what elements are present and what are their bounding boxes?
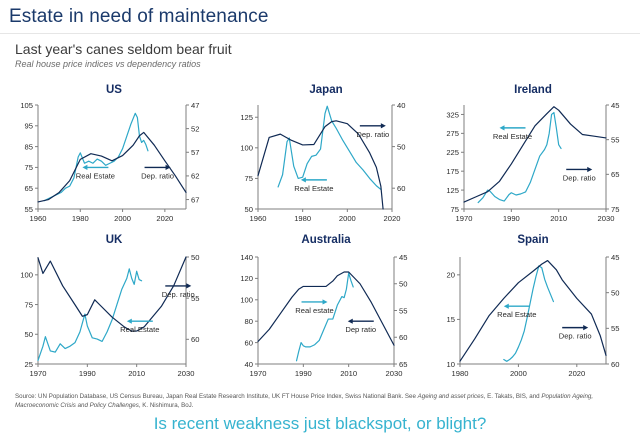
svg-text:2000: 2000 xyxy=(114,214,131,223)
svg-text:80: 80 xyxy=(245,317,253,326)
svg-text:140: 140 xyxy=(240,253,253,262)
chart-caption: Real house price indices vs dependency r… xyxy=(15,59,201,69)
svg-text:2010: 2010 xyxy=(550,214,567,223)
source-text-3: , K. Nishimura, BoJ. xyxy=(139,402,194,409)
source-text-1: Source: UN Population Database, US Censu… xyxy=(15,393,418,400)
svg-text:275: 275 xyxy=(446,129,459,138)
chart-panel-ireland: Ireland 75125175225275325455565751970199… xyxy=(430,84,636,229)
chart-plot-us: 556575859510547525762671960198020002020R… xyxy=(8,99,220,229)
chart-panel-spain: Spain 10152045505560198020002020Real Est… xyxy=(430,234,636,384)
svg-text:50: 50 xyxy=(25,330,33,339)
svg-text:10: 10 xyxy=(447,360,455,369)
chart-title-australia: Australia xyxy=(228,234,424,246)
svg-text:60: 60 xyxy=(191,335,199,344)
chart-title-us: US xyxy=(8,84,220,96)
svg-text:Real Estate: Real Estate xyxy=(76,171,115,180)
chart-panel-us: US 5565758595105475257626719601980200020… xyxy=(8,84,220,229)
svg-text:105: 105 xyxy=(20,101,33,110)
svg-text:325: 325 xyxy=(446,110,459,119)
svg-text:50: 50 xyxy=(191,253,199,262)
svg-text:120: 120 xyxy=(240,274,253,283)
slide-root: Estate in need of maintenance Last year'… xyxy=(0,0,640,445)
svg-text:1960: 1960 xyxy=(30,214,47,223)
svg-text:1960: 1960 xyxy=(250,214,267,223)
footer-headline: Is recent weakness just blackspot, or bl… xyxy=(0,414,640,434)
svg-text:2010: 2010 xyxy=(340,369,357,378)
svg-text:225: 225 xyxy=(446,148,459,157)
svg-text:Dep. ratio: Dep. ratio xyxy=(141,171,174,180)
svg-text:1970: 1970 xyxy=(456,214,473,223)
chart-title-spain: Spain xyxy=(430,234,636,246)
svg-text:100: 100 xyxy=(240,144,253,153)
svg-text:125: 125 xyxy=(240,113,253,122)
svg-text:20: 20 xyxy=(447,271,455,280)
svg-text:55: 55 xyxy=(25,205,33,214)
svg-text:75: 75 xyxy=(451,205,459,214)
svg-text:Dep. ratio: Dep. ratio xyxy=(162,290,195,299)
chart-title-japan: Japan xyxy=(228,84,424,96)
svg-text:75: 75 xyxy=(611,205,619,214)
svg-text:52: 52 xyxy=(191,124,199,133)
svg-text:55: 55 xyxy=(611,135,619,144)
source-note: Source: UN Population Database, US Censu… xyxy=(15,393,633,411)
svg-text:1980: 1980 xyxy=(452,369,469,378)
svg-text:15: 15 xyxy=(447,315,455,324)
svg-text:50: 50 xyxy=(245,205,253,214)
svg-text:45: 45 xyxy=(399,253,407,262)
svg-text:1970: 1970 xyxy=(30,369,47,378)
svg-text:2010: 2010 xyxy=(128,369,145,378)
svg-text:2030: 2030 xyxy=(598,214,615,223)
svg-text:25: 25 xyxy=(25,360,33,369)
chart-panel-uk: UK 2550751005055601970199020102030Real E… xyxy=(8,234,220,384)
svg-text:2000: 2000 xyxy=(339,214,356,223)
svg-text:75: 75 xyxy=(25,163,33,172)
svg-text:2030: 2030 xyxy=(386,369,403,378)
svg-text:45: 45 xyxy=(611,101,619,110)
svg-text:62: 62 xyxy=(191,172,199,181)
svg-text:1980: 1980 xyxy=(294,214,311,223)
svg-text:1990: 1990 xyxy=(295,369,312,378)
svg-text:40: 40 xyxy=(245,360,253,369)
chart-title-ireland: Ireland xyxy=(430,84,636,96)
svg-text:2030: 2030 xyxy=(178,369,195,378)
svg-text:Real Estate: Real Estate xyxy=(294,184,333,193)
svg-text:75: 75 xyxy=(25,300,33,309)
svg-text:2020: 2020 xyxy=(384,214,401,223)
svg-text:Real Estate: Real Estate xyxy=(493,132,532,141)
svg-text:1990: 1990 xyxy=(79,369,96,378)
svg-text:55: 55 xyxy=(399,306,407,315)
svg-text:55: 55 xyxy=(611,324,619,333)
svg-text:40: 40 xyxy=(397,101,405,110)
svg-text:47: 47 xyxy=(191,101,199,110)
svg-text:125: 125 xyxy=(446,186,459,195)
source-italic-1: Ageing and asset prices xyxy=(418,393,484,400)
svg-text:50: 50 xyxy=(611,288,619,297)
svg-text:100: 100 xyxy=(20,271,33,280)
page-title: Estate in need of maintenance xyxy=(9,6,269,28)
svg-text:1980: 1980 xyxy=(72,214,89,223)
svg-text:60: 60 xyxy=(399,333,407,342)
svg-text:65: 65 xyxy=(399,360,407,369)
svg-text:175: 175 xyxy=(446,167,459,176)
svg-text:50: 50 xyxy=(399,280,407,289)
svg-text:Dep. ratio: Dep. ratio xyxy=(559,332,592,341)
chart-panel-japan: Japan 50751001254050601960198020002020Re… xyxy=(228,84,424,229)
svg-text:57: 57 xyxy=(191,148,199,157)
svg-text:100: 100 xyxy=(240,296,253,305)
svg-text:67: 67 xyxy=(191,195,199,204)
svg-text:2020: 2020 xyxy=(156,214,173,223)
svg-text:95: 95 xyxy=(25,122,33,131)
chart-plot-uk: 2550751005055601970199020102030Real Esta… xyxy=(8,249,220,384)
chart-panel-australia: Australia 406080100120140455055606519701… xyxy=(228,234,424,384)
subtitle: Last year's canes seldom bear fruit xyxy=(15,41,232,57)
svg-text:60: 60 xyxy=(397,184,405,193)
svg-text:Dep. ratio: Dep. ratio xyxy=(563,173,596,182)
svg-text:45: 45 xyxy=(611,253,619,262)
chart-plot-ireland: 7512517522527532545556575197019902010203… xyxy=(430,99,636,229)
svg-text:85: 85 xyxy=(25,142,33,151)
chart-plot-japan: 50751001254050601960198020002020Real Est… xyxy=(228,99,424,229)
chart-plot-australia: 4060801001201404550556065197019902010203… xyxy=(228,249,424,384)
svg-text:75: 75 xyxy=(245,174,253,183)
svg-text:1990: 1990 xyxy=(503,214,520,223)
svg-text:60: 60 xyxy=(245,338,253,347)
chart-title-uk: UK xyxy=(8,234,220,246)
svg-text:50: 50 xyxy=(397,142,405,151)
svg-text:Real estate: Real estate xyxy=(295,306,333,315)
svg-text:65: 65 xyxy=(611,170,619,179)
header-divider xyxy=(0,33,640,34)
svg-text:Dep ratio: Dep ratio xyxy=(345,325,376,334)
svg-text:Real Estate: Real Estate xyxy=(497,310,536,319)
source-text-2: , E. Takats, BIS, and xyxy=(484,393,542,400)
svg-text:65: 65 xyxy=(25,184,33,193)
svg-text:Real Estate: Real Estate xyxy=(120,325,159,334)
svg-text:60: 60 xyxy=(611,360,619,369)
svg-text:2000: 2000 xyxy=(510,369,527,378)
svg-text:Dep. ratio: Dep. ratio xyxy=(356,130,389,139)
svg-text:2020: 2020 xyxy=(568,369,585,378)
svg-text:1970: 1970 xyxy=(250,369,267,378)
chart-plot-spain: 10152045505560198020002020Real EstateDep… xyxy=(430,249,636,384)
